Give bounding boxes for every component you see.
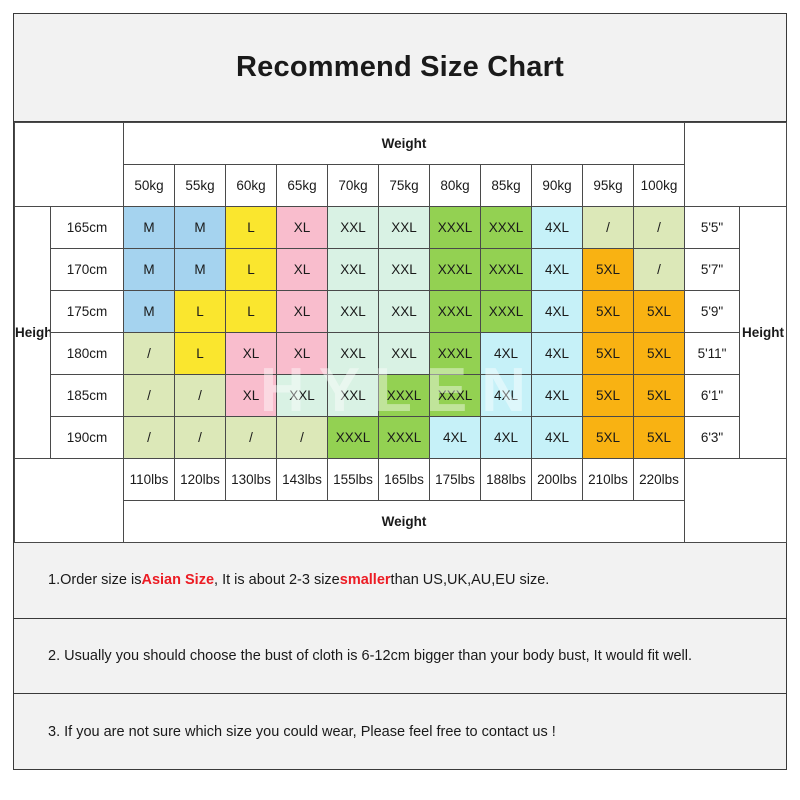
weight-kg-3: 65kg [277, 165, 328, 207]
height-cm-4: 185cm [51, 375, 124, 417]
size-cell-2-5: XXL [379, 291, 430, 333]
size-cell-3-5: XXL [379, 333, 430, 375]
weight-lbs-3: 143lbs [277, 459, 328, 501]
size-cell-2-8: 4XL [532, 291, 583, 333]
size-chart-container: Recommend Size Chart Weight50kg55kg60kg6… [13, 13, 787, 770]
height-ft-1: 5'7" [685, 249, 740, 291]
size-cell-5-10: 5XL [634, 417, 685, 459]
left-height-axis-label: Height [15, 207, 51, 459]
size-cell-0-5: XXL [379, 207, 430, 249]
size-cell-0-3: XL [277, 207, 328, 249]
weight-kg-row: 50kg55kg60kg65kg70kg75kg80kg85kg90kg95kg… [15, 165, 787, 207]
weight-kg-8: 90kg [532, 165, 583, 207]
size-cell-3-7: 4XL [481, 333, 532, 375]
size-cell-5-5: XXXL [379, 417, 430, 459]
size-cell-0-10: / [634, 207, 685, 249]
corner-blank-bottomleft [15, 459, 124, 543]
weight-kg-0: 50kg [124, 165, 175, 207]
corner-blank-topright [685, 123, 787, 207]
height-ft-2: 5'9" [685, 291, 740, 333]
size-cell-1-8: 4XL [532, 249, 583, 291]
corner-blank-topleft [15, 123, 124, 207]
size-cell-0-0: M [124, 207, 175, 249]
weight-kg-2: 60kg [226, 165, 277, 207]
size-cell-4-2: XL [226, 375, 277, 417]
size-cell-5-4: XXXL [328, 417, 379, 459]
height-cm-3: 180cm [51, 333, 124, 375]
size-cell-1-5: XXL [379, 249, 430, 291]
size-cell-4-1: / [175, 375, 226, 417]
weight-lbs-2: 130lbs [226, 459, 277, 501]
size-cell-0-7: XXXL [481, 207, 532, 249]
weight-lbs-7: 188lbs [481, 459, 532, 501]
size-cell-3-0: / [124, 333, 175, 375]
note-2: 2. Usually you should choose the bust of… [14, 619, 786, 695]
size-cell-2-7: XXXL [481, 291, 532, 333]
note-3-part-0: 3. If you are not sure which size you co… [48, 724, 556, 740]
weight-lbs-4: 155lbs [328, 459, 379, 501]
size-cell-4-5: XXXL [379, 375, 430, 417]
table-row: 185cm//XLXXLXXLXXXLXXXL4XL4XL5XL5XL6'1" [15, 375, 787, 417]
corner-blank-bottomright [685, 459, 787, 543]
note-2-part-0: 2. Usually you should choose the bust of… [48, 648, 692, 664]
size-cell-3-8: 4XL [532, 333, 583, 375]
size-cell-3-6: XXXL [430, 333, 481, 375]
size-chart-page: Recommend Size Chart Weight50kg55kg60kg6… [0, 0, 800, 800]
size-cell-1-7: XXXL [481, 249, 532, 291]
size-cell-2-4: XXL [328, 291, 379, 333]
notes-section: 1.Order size is Asian Size, It is about … [14, 543, 786, 769]
weight-kg-9: 95kg [583, 165, 634, 207]
note-1-part-1: Asian Size [141, 572, 214, 588]
size-cell-1-9: 5XL [583, 249, 634, 291]
size-cell-3-10: 5XL [634, 333, 685, 375]
top-weight-axis-label: Weight [124, 123, 685, 165]
size-cell-5-3: / [277, 417, 328, 459]
note-1-part-0: 1.Order size is [48, 572, 141, 588]
height-cm-5: 190cm [51, 417, 124, 459]
size-cell-3-4: XXL [328, 333, 379, 375]
size-cell-2-6: XXXL [430, 291, 481, 333]
weight-lbs-6: 175lbs [430, 459, 481, 501]
size-cell-3-3: XL [277, 333, 328, 375]
height-ft-3: 5'11" [685, 333, 740, 375]
size-cell-2-0: M [124, 291, 175, 333]
size-cell-2-3: XL [277, 291, 328, 333]
size-cell-4-0: / [124, 375, 175, 417]
size-cell-2-10: 5XL [634, 291, 685, 333]
size-cell-2-1: L [175, 291, 226, 333]
weight-lbs-10: 220lbs [634, 459, 685, 501]
size-cell-0-9: / [583, 207, 634, 249]
weight-header-row: Weight [15, 123, 787, 165]
note-1: 1.Order size is Asian Size, It is about … [14, 543, 786, 619]
size-cell-1-10: / [634, 249, 685, 291]
size-cell-1-2: L [226, 249, 277, 291]
height-ft-4: 6'1" [685, 375, 740, 417]
size-cell-1-6: XXXL [430, 249, 481, 291]
size-cell-0-1: M [175, 207, 226, 249]
bottom-weight-axis-label: Weight [124, 501, 685, 543]
weight-lbs-8: 200lbs [532, 459, 583, 501]
size-cell-1-1: M [175, 249, 226, 291]
note-1-part-2: , It is about 2-3 size [214, 572, 340, 588]
size-cell-4-4: XXL [328, 375, 379, 417]
weight-kg-4: 70kg [328, 165, 379, 207]
weight-kg-10: 100kg [634, 165, 685, 207]
size-cell-1-3: XL [277, 249, 328, 291]
height-ft-5: 6'3" [685, 417, 740, 459]
size-cell-5-1: / [175, 417, 226, 459]
size-cell-5-7: 4XL [481, 417, 532, 459]
right-height-axis-label: Height [740, 207, 787, 459]
bottom-weight-row: Weight [15, 501, 787, 543]
note-3: 3. If you are not sure which size you co… [14, 694, 786, 769]
height-cm-0: 165cm [51, 207, 124, 249]
size-table-wrap: Weight50kg55kg60kg65kg70kg75kg80kg85kg90… [14, 122, 786, 543]
size-cell-5-2: / [226, 417, 277, 459]
size-table: Weight50kg55kg60kg65kg70kg75kg80kg85kg90… [14, 122, 787, 543]
size-cell-3-9: 5XL [583, 333, 634, 375]
note-1-part-4: than US,UK,AU,EU size. [391, 572, 550, 588]
size-cell-4-7: 4XL [481, 375, 532, 417]
weight-kg-6: 80kg [430, 165, 481, 207]
height-cm-1: 170cm [51, 249, 124, 291]
size-cell-5-8: 4XL [532, 417, 583, 459]
size-cell-4-3: XXL [277, 375, 328, 417]
table-row: 190cm////XXXLXXXL4XL4XL4XL5XL5XL6'3" [15, 417, 787, 459]
table-row: 170cmMMLXLXXLXXLXXXLXXXL4XL5XL/5'7" [15, 249, 787, 291]
table-row: Height165cmMMLXLXXLXXLXXXLXXXL4XL//5'5"H… [15, 207, 787, 249]
size-cell-4-8: 4XL [532, 375, 583, 417]
size-cell-0-4: XXL [328, 207, 379, 249]
page-title: Recommend Size Chart [236, 51, 564, 84]
size-cell-5-9: 5XL [583, 417, 634, 459]
size-cell-3-2: XL [226, 333, 277, 375]
size-cell-0-8: 4XL [532, 207, 583, 249]
size-cell-1-4: XXL [328, 249, 379, 291]
weight-lbs-row: 110lbs120lbs130lbs143lbs155lbs165lbs175l… [15, 459, 787, 501]
table-row: 175cmMLLXLXXLXXLXXXLXXXL4XL5XL5XL5'9" [15, 291, 787, 333]
weight-kg-1: 55kg [175, 165, 226, 207]
size-cell-4-10: 5XL [634, 375, 685, 417]
size-cell-2-9: 5XL [583, 291, 634, 333]
size-cell-2-2: L [226, 291, 277, 333]
size-cell-4-9: 5XL [583, 375, 634, 417]
size-cell-5-0: / [124, 417, 175, 459]
height-cm-2: 175cm [51, 291, 124, 333]
weight-kg-7: 85kg [481, 165, 532, 207]
size-cell-0-6: XXXL [430, 207, 481, 249]
size-cell-3-1: L [175, 333, 226, 375]
weight-lbs-1: 120lbs [175, 459, 226, 501]
size-cell-4-6: XXXL [430, 375, 481, 417]
size-table-body: Weight50kg55kg60kg65kg70kg75kg80kg85kg90… [15, 123, 787, 543]
size-cell-5-6: 4XL [430, 417, 481, 459]
note-1-part-3: smaller [340, 572, 391, 588]
title-band: Recommend Size Chart [14, 14, 786, 122]
weight-lbs-9: 210lbs [583, 459, 634, 501]
size-cell-0-2: L [226, 207, 277, 249]
height-ft-0: 5'5" [685, 207, 740, 249]
weight-lbs-5: 165lbs [379, 459, 430, 501]
size-cell-1-0: M [124, 249, 175, 291]
table-row: 180cm/LXLXLXXLXXLXXXL4XL4XL5XL5XL5'11" [15, 333, 787, 375]
weight-lbs-0: 110lbs [124, 459, 175, 501]
weight-kg-5: 75kg [379, 165, 430, 207]
